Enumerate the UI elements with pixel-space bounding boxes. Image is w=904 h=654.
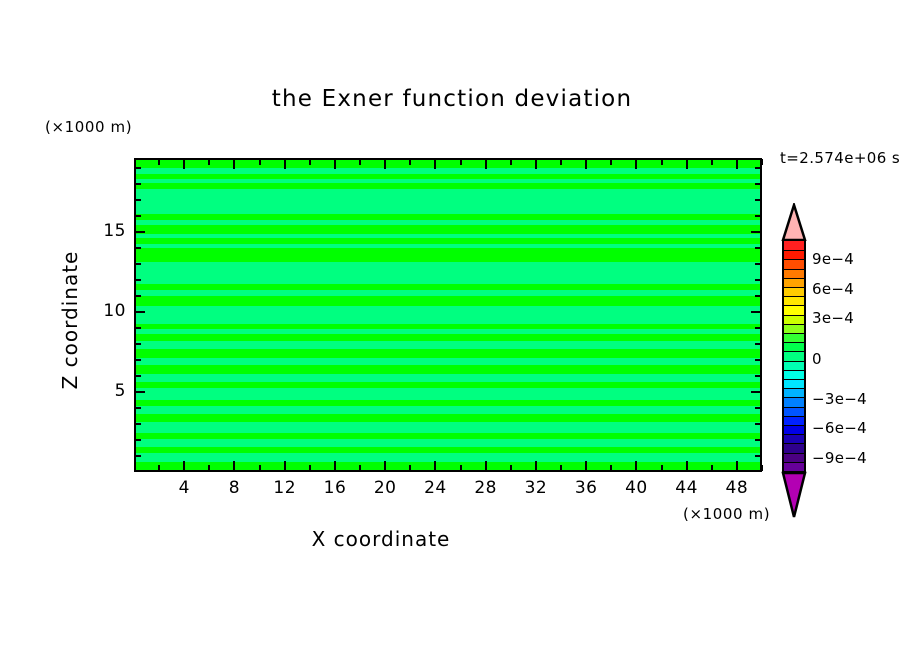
x-tick [434, 461, 436, 471]
y-tick [135, 247, 141, 249]
colorbar-tick-label: 6e−4 [812, 280, 854, 298]
x-tick [259, 465, 261, 471]
colorbar-cell [784, 342, 804, 352]
colorbar-cell [784, 361, 804, 371]
y-tick-label: 15 [92, 221, 126, 241]
colorbar-cell [784, 434, 804, 444]
colorbar-separator [784, 296, 804, 297]
colorbar-cell [784, 416, 804, 426]
y-tick [755, 183, 761, 185]
colorbar-cell [784, 278, 804, 288]
figure-canvas: the Exner function deviation (×1000 m) (… [0, 0, 904, 654]
colorbar-cell [784, 305, 804, 315]
colorbar-separator [784, 425, 804, 426]
x-tick-label: 44 [667, 478, 707, 498]
y-tick [135, 343, 141, 345]
x-tick [610, 159, 612, 165]
x-tick [535, 159, 537, 169]
x-tick-label: 20 [365, 478, 405, 498]
x-tick [384, 461, 386, 471]
x-tick-label: 12 [265, 478, 305, 498]
y-tick [135, 407, 141, 409]
x-tick [661, 465, 663, 471]
x-tick [309, 465, 311, 471]
x-tick-label: 32 [516, 478, 556, 498]
x-tick [460, 159, 462, 165]
x-tick [334, 159, 336, 169]
x-tick [334, 461, 336, 471]
x-tick [560, 159, 562, 165]
y-tick [135, 359, 141, 361]
x-tick [510, 465, 512, 471]
colorbar-separator [784, 342, 804, 343]
x-tick [535, 461, 537, 471]
y-tick [135, 231, 145, 233]
y-tick [135, 167, 141, 169]
x-tick [736, 159, 738, 169]
contour-band [136, 189, 760, 214]
colorbar-separator [784, 443, 804, 444]
colorbar-separator [784, 397, 804, 398]
y-tick [135, 455, 141, 457]
colorbar-separator [784, 351, 804, 352]
y-tick [135, 295, 141, 297]
colorbar-cell [784, 333, 804, 343]
x-tick-label: 40 [616, 478, 656, 498]
y-tick [135, 183, 141, 185]
colorbar-separator [784, 379, 804, 380]
colorbar-separator [784, 305, 804, 306]
x-tick [736, 461, 738, 471]
x-tick-label: 36 [566, 478, 606, 498]
x-tick [686, 159, 688, 169]
colorbar-separator [784, 259, 804, 260]
colorbar-tick-label: −6e−4 [812, 419, 867, 437]
contour-band [136, 462, 760, 470]
y-tick [755, 359, 761, 361]
x-tick-label: 16 [315, 478, 355, 498]
contour-band [136, 388, 760, 401]
colorbar-cell [784, 324, 804, 334]
x-axis-title: X coordinate [0, 527, 762, 551]
colorbar-separator [784, 287, 804, 288]
x-tick [208, 159, 210, 165]
x-tick [661, 159, 663, 165]
x-tick [259, 159, 261, 165]
x-tick [158, 465, 160, 471]
y-tick [755, 343, 761, 345]
y-tick [755, 295, 761, 297]
x-tick [309, 159, 311, 165]
colorbar-tick-label: 9e−4 [812, 250, 854, 268]
colorbar-separator [784, 278, 804, 279]
colorbar-cell [784, 250, 804, 260]
y-tick [755, 327, 761, 329]
colorbar-under-arrow [780, 471, 808, 519]
colorbar-over-arrow [780, 203, 808, 241]
x-tick [711, 465, 713, 471]
colorbar-separator [784, 388, 804, 389]
x-tick-label: 48 [717, 478, 757, 498]
y-tick-label: 5 [92, 381, 126, 401]
colorbar-separator [784, 333, 804, 334]
colorbar-cell [784, 379, 804, 389]
colorbar-separator [784, 462, 804, 463]
colorbar-separator [784, 315, 804, 316]
x-tick [359, 465, 361, 471]
y-tick [135, 279, 141, 281]
x-axis-unit-label: (×1000 m) [683, 505, 770, 523]
colorbar-separator [784, 370, 804, 371]
x-tick [711, 159, 713, 165]
x-tick [686, 461, 688, 471]
x-tick [284, 159, 286, 169]
contour-band [136, 262, 760, 284]
colorbar-cell [784, 241, 804, 251]
colorbar-cell [784, 296, 804, 306]
colorbar-separator [784, 324, 804, 325]
x-tick [560, 465, 562, 471]
x-tick [384, 159, 386, 169]
y-tick [751, 391, 761, 393]
y-tick [751, 311, 761, 313]
y-tick [751, 231, 761, 233]
x-tick [485, 159, 487, 169]
y-tick [135, 375, 141, 377]
colorbar-cell [784, 425, 804, 435]
colorbar-separator [784, 361, 804, 362]
page-title: the Exner function deviation [0, 86, 904, 112]
colorbar-separator [784, 416, 804, 417]
x-tick [510, 159, 512, 165]
y-tick [755, 199, 761, 201]
x-tick [183, 159, 185, 169]
x-tick [158, 159, 160, 165]
x-tick [585, 461, 587, 471]
x-tick [485, 461, 487, 471]
colorbar-cell [784, 351, 804, 361]
time-annotation: t=2.574e+06 s [780, 149, 900, 167]
x-tick [284, 461, 286, 471]
x-tick [409, 159, 411, 165]
x-tick [359, 159, 361, 165]
colorbar-cell [784, 462, 804, 472]
x-tick [761, 159, 763, 165]
x-tick [434, 159, 436, 169]
y-tick [755, 407, 761, 409]
y-tick [755, 279, 761, 281]
colorbar-cell [784, 397, 804, 407]
y-tick [135, 423, 141, 425]
y-tick [755, 167, 761, 169]
y-tick [755, 439, 761, 441]
colorbar-tick-label: 3e−4 [812, 309, 854, 327]
y-tick [755, 375, 761, 377]
y-tick [755, 455, 761, 457]
colorbar-cell [784, 453, 804, 463]
y-tick [135, 311, 145, 313]
x-tick [460, 465, 462, 471]
colorbar-cell [784, 269, 804, 279]
contour-band [136, 422, 760, 433]
contour-field [136, 160, 760, 470]
contour-band [136, 306, 760, 325]
x-tick [208, 465, 210, 471]
colorbar-cell [784, 259, 804, 269]
colorbar-separator [784, 250, 804, 251]
x-tick [233, 159, 235, 169]
colorbar-tick-label: −3e−4 [812, 390, 867, 408]
x-tick [409, 465, 411, 471]
colorbar-cell [784, 388, 804, 398]
y-tick [755, 263, 761, 265]
x-tick [585, 159, 587, 169]
colorbar-tick-label: 0 [812, 350, 822, 368]
y-tick [135, 439, 141, 441]
y-axis-unit-label: (×1000 m) [45, 118, 132, 136]
colorbar-cell [784, 443, 804, 453]
y-tick [755, 215, 761, 217]
x-tick-label: 24 [415, 478, 455, 498]
colorbar-separator [784, 407, 804, 408]
y-tick [135, 199, 141, 201]
colorbar [782, 239, 806, 473]
x-tick-label: 8 [214, 478, 254, 498]
y-tick [755, 247, 761, 249]
y-tick [135, 391, 145, 393]
x-tick [635, 159, 637, 169]
x-tick [233, 461, 235, 471]
x-tick [761, 465, 763, 471]
y-tick [135, 215, 141, 217]
y-axis-title: Z coordinate [58, 210, 82, 430]
y-tick [135, 327, 141, 329]
x-tick [635, 461, 637, 471]
colorbar-cell [784, 315, 804, 325]
colorbar-cell [784, 407, 804, 417]
y-tick-label: 10 [92, 301, 126, 321]
colorbar-separator [784, 453, 804, 454]
colorbar-separator [784, 269, 804, 270]
colorbar-separator [784, 434, 804, 435]
plot-area [134, 158, 762, 472]
x-tick [183, 461, 185, 471]
colorbar-cell [784, 370, 804, 380]
colorbar-cell [784, 287, 804, 297]
colorbar-tick-label: −9e−4 [812, 449, 867, 467]
x-tick-label: 28 [466, 478, 506, 498]
x-tick-label: 4 [164, 478, 204, 498]
y-tick [755, 423, 761, 425]
contour-band [136, 248, 760, 263]
y-tick [135, 263, 141, 265]
x-tick [610, 465, 612, 471]
